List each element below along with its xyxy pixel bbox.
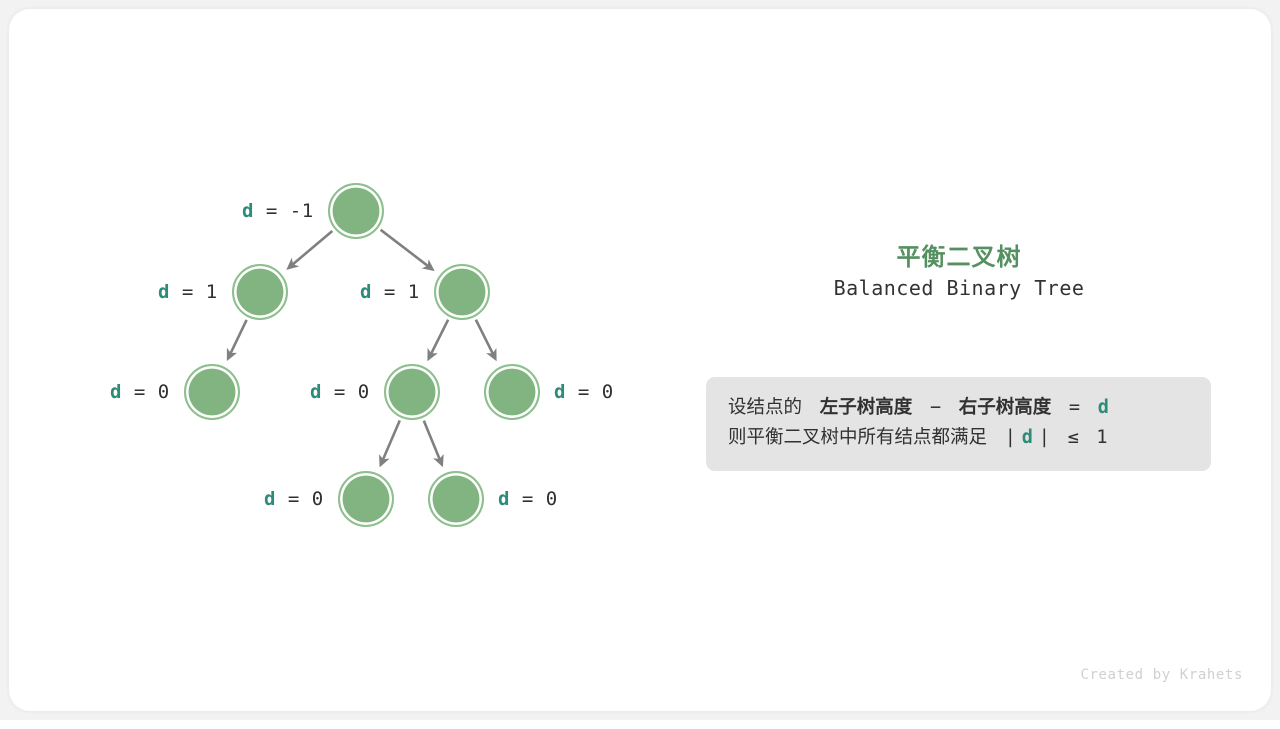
tree-node-n-rlr[interactable] <box>428 471 484 527</box>
node-label-var-root: d <box>242 200 254 222</box>
node-label-var-n-rl: d <box>310 381 322 403</box>
node-label-var-n-r: d <box>360 281 372 303</box>
tree-edges <box>9 9 689 729</box>
tree-edge <box>476 320 496 359</box>
node-label-var-n-ll: d <box>110 381 122 403</box>
tree-edge <box>429 320 449 359</box>
definition-prefix-1: 设结点的 <box>728 397 802 418</box>
credit-text: Created by Krahets <box>1080 667 1243 683</box>
node-label-n-rll: d = 0 <box>264 490 324 509</box>
screenshot-canvas: d = -1d = 1d = 1d = 0d = 0d = 0d = 0d = … <box>0 0 1280 720</box>
node-label-var-n-rll: d <box>264 488 276 510</box>
definition-box: 设结点的 左子树高度 − 右子树高度 = d 则平衡二叉树中所有结点都满足 | <box>706 377 1211 471</box>
definition-line-1: 设结点的 左子树高度 − 右子树高度 = d <box>728 393 1189 423</box>
equals-operator: = <box>1069 397 1080 418</box>
node-label-value-n-ll: = 0 <box>122 381 170 403</box>
node-label-value-n-l: = 1 <box>170 281 218 303</box>
bound-value: 1 <box>1096 427 1107 448</box>
content-card: d = -1d = 1d = 1d = 0d = 0d = 0d = 0d = … <box>8 8 1272 712</box>
node-label-value-n-r: = 1 <box>372 281 420 303</box>
abs-bar-open: | <box>1005 427 1016 448</box>
tree-edge <box>288 231 332 268</box>
binary-tree-diagram: d = -1d = 1d = 1d = 0d = 0d = 0d = 0d = … <box>9 9 689 729</box>
tree-node-n-rl[interactable] <box>384 364 440 420</box>
abs-bar-close: | <box>1039 427 1050 448</box>
tree-node-n-l[interactable] <box>232 264 288 320</box>
definition-prefix-2: 则平衡二叉树中所有结点都满足 <box>728 427 987 448</box>
node-label-n-rl: d = 0 <box>310 383 370 402</box>
info-panel: 平衡二叉树 Balanced Binary Tree 设结点的 左子树高度 − … <box>689 9 1280 729</box>
node-label-n-ll: d = 0 <box>110 383 170 402</box>
tree-edge <box>424 421 442 465</box>
variable-d-2: d <box>1022 427 1033 448</box>
tree-node-n-rll[interactable] <box>338 471 394 527</box>
node-label-n-rlr: d = 0 <box>498 490 558 509</box>
minus-operator: − <box>930 397 941 418</box>
tree-node-n-ll[interactable] <box>184 364 240 420</box>
node-label-value-n-rr: = 0 <box>566 381 614 403</box>
less-equal-operator: ≤ <box>1068 427 1079 448</box>
node-label-root: d = -1 <box>242 202 314 221</box>
term-left-subtree-height: 左子树高度 <box>820 397 913 418</box>
node-label-var-n-rlr: d <box>498 488 510 510</box>
node-label-value-n-rll: = 0 <box>276 488 324 510</box>
definition-line-2: 则平衡二叉树中所有结点都满足 | d | ≤ 1 <box>728 423 1189 453</box>
tree-node-n-rr[interactable] <box>484 364 540 420</box>
page-subtitle: Balanced Binary Tree <box>689 276 1229 300</box>
node-label-var-n-l: d <box>158 281 170 303</box>
node-label-var-n-rr: d <box>554 381 566 403</box>
tree-node-n-r[interactable] <box>434 264 490 320</box>
variable-d-1: d <box>1098 397 1109 418</box>
node-label-value-root: = -1 <box>254 200 314 222</box>
tree-edge <box>228 320 247 359</box>
tree-node-root[interactable] <box>328 183 384 239</box>
page-title: 平衡二叉树 <box>689 237 1229 272</box>
node-label-n-r: d = 1 <box>360 283 420 302</box>
tree-edge <box>381 230 433 270</box>
node-label-value-n-rl: = 0 <box>322 381 370 403</box>
term-right-subtree-height: 右子树高度 <box>959 397 1052 418</box>
node-label-value-n-rlr: = 0 <box>510 488 558 510</box>
node-label-n-l: d = 1 <box>158 283 218 302</box>
node-label-n-rr: d = 0 <box>554 383 614 402</box>
tree-edge <box>381 420 400 465</box>
